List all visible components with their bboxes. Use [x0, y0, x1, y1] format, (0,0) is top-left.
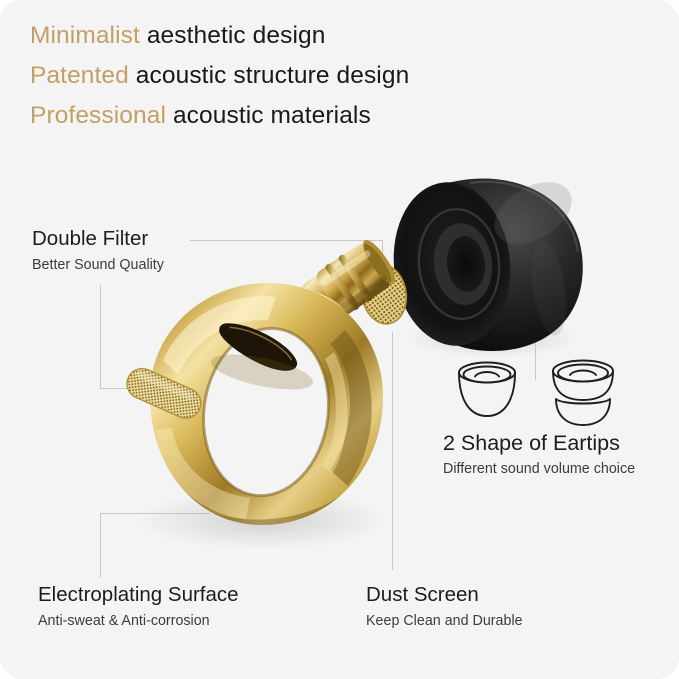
callout-eartips-subtitle: Different sound volume choice — [443, 458, 635, 480]
product-illustration — [0, 0, 679, 679]
callout-electroplating-title: Electroplating Surface — [38, 582, 239, 608]
gold-earbud-body — [150, 235, 401, 537]
eartip-double-flange-icon — [553, 361, 613, 426]
silicone-eartip-3d — [386, 169, 583, 351]
product-feature-card: Minimalist aesthetic design Patented aco… — [0, 0, 679, 679]
callout-double-filter: Double Filter Better Sound Quality — [32, 226, 164, 276]
eartip-single-flange-icon — [459, 363, 515, 417]
callout-dust-screen: Dust Screen Keep Clean and Durable — [366, 582, 523, 632]
callout-electroplating: Electroplating Surface Anti-sweat & Anti… — [38, 582, 239, 632]
callout-eartips: 2 Shape of Eartips Different sound volum… — [443, 430, 635, 480]
eartip-shape-icons — [450, 355, 635, 430]
callout-double-filter-title: Double Filter — [32, 226, 164, 252]
callout-electroplating-subtitle: Anti-sweat & Anti-corrosion — [38, 610, 239, 632]
callout-eartips-title: 2 Shape of Eartips — [443, 430, 635, 456]
callout-dust-screen-title: Dust Screen — [366, 582, 523, 608]
callout-dust-screen-subtitle: Keep Clean and Durable — [366, 610, 523, 632]
callout-double-filter-subtitle: Better Sound Quality — [32, 254, 164, 276]
